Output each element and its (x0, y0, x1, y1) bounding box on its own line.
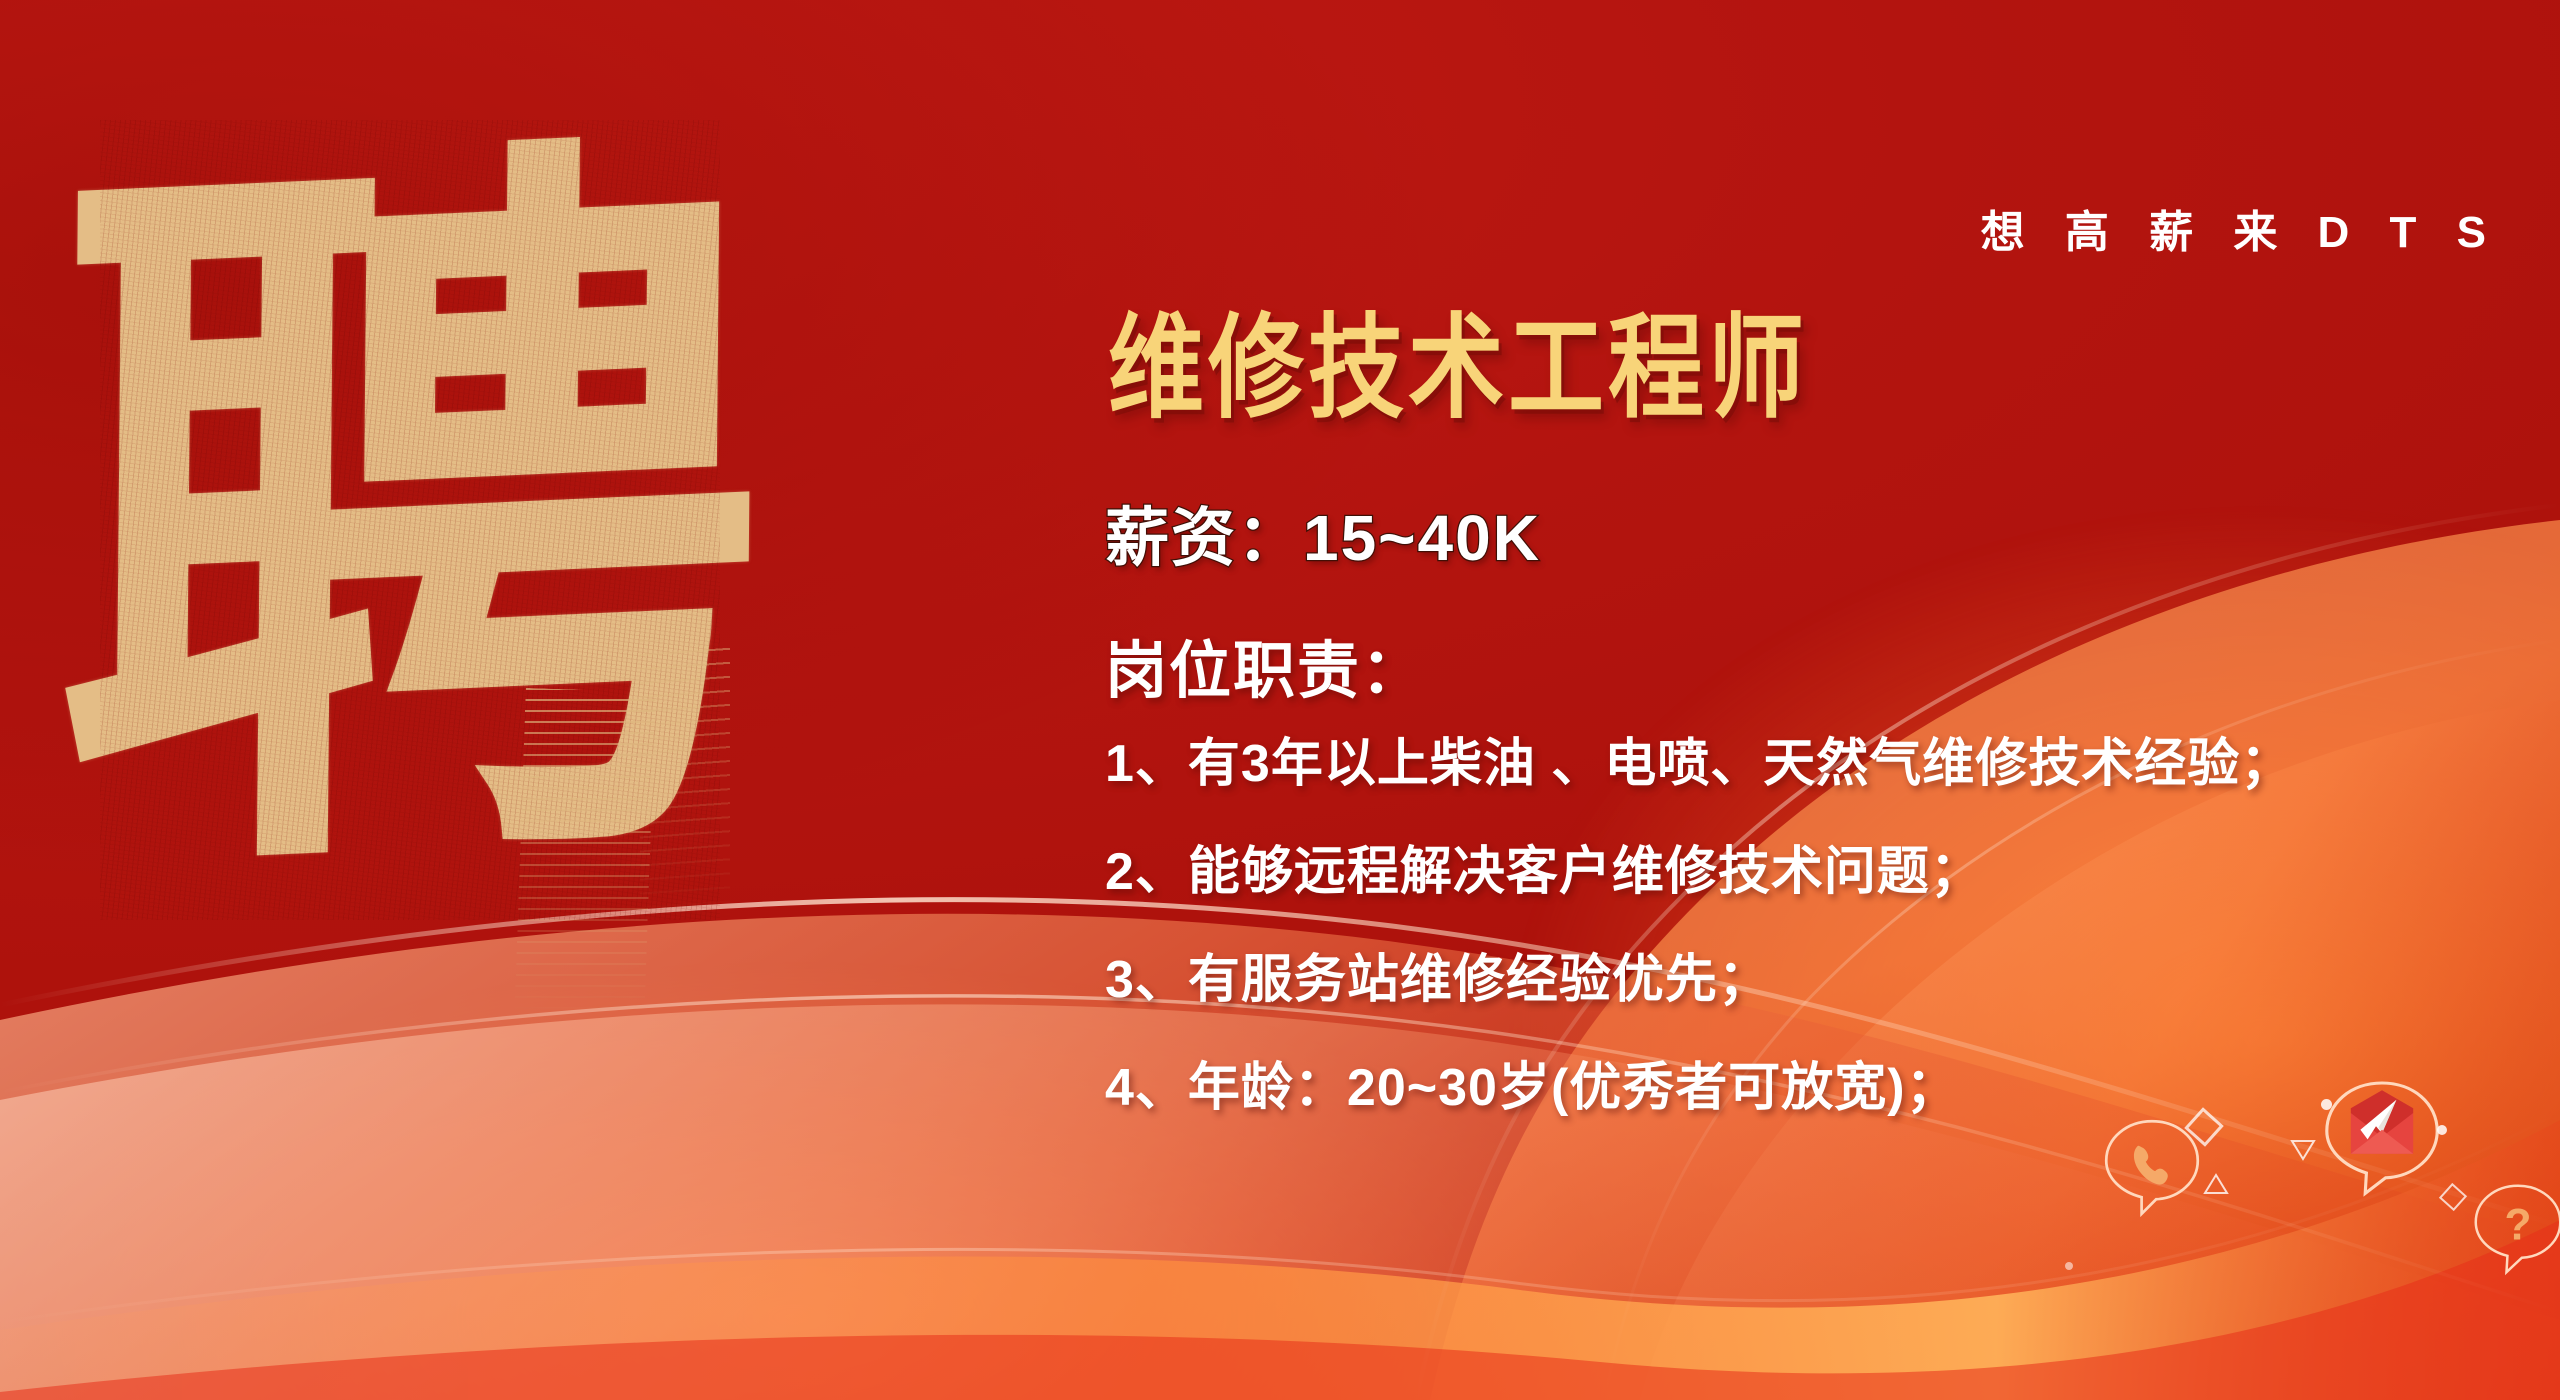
calligraphy-glyph: 聘 (90, 82, 729, 959)
duties-heading: 岗位职责： (1105, 620, 1425, 710)
salary-text: 薪资：15~40K (1105, 487, 1541, 579)
page-title: 维修技术工程师 (1108, 310, 1808, 429)
list-item: 2、能够远程解决客户维修技术问题； (1105, 846, 2525, 898)
list-item: 1、有3年以上柴油 、电喷、天然气维修技术经验； (1105, 738, 2525, 790)
list-item: 3、有服务站维修经验优先； (1105, 954, 2525, 1006)
duties-list: 1、有3年以上柴油 、电喷、天然气维修技术经验； 2、能够远程解决客户维修技术问… (1105, 738, 2525, 1170)
list-item: 4、年龄：20~30岁(优秀者可放宽)； (1105, 1062, 2525, 1114)
slogan-text: 想 高 薪 来 D T S (1981, 196, 2500, 260)
calligraphy-brush-character: 聘 (100, 120, 720, 920)
recruitment-poster: 聘 想 高 薪 来 D T S 维修技术工程师 薪资：15~40K 岗位职责： … (0, 0, 2560, 1400)
